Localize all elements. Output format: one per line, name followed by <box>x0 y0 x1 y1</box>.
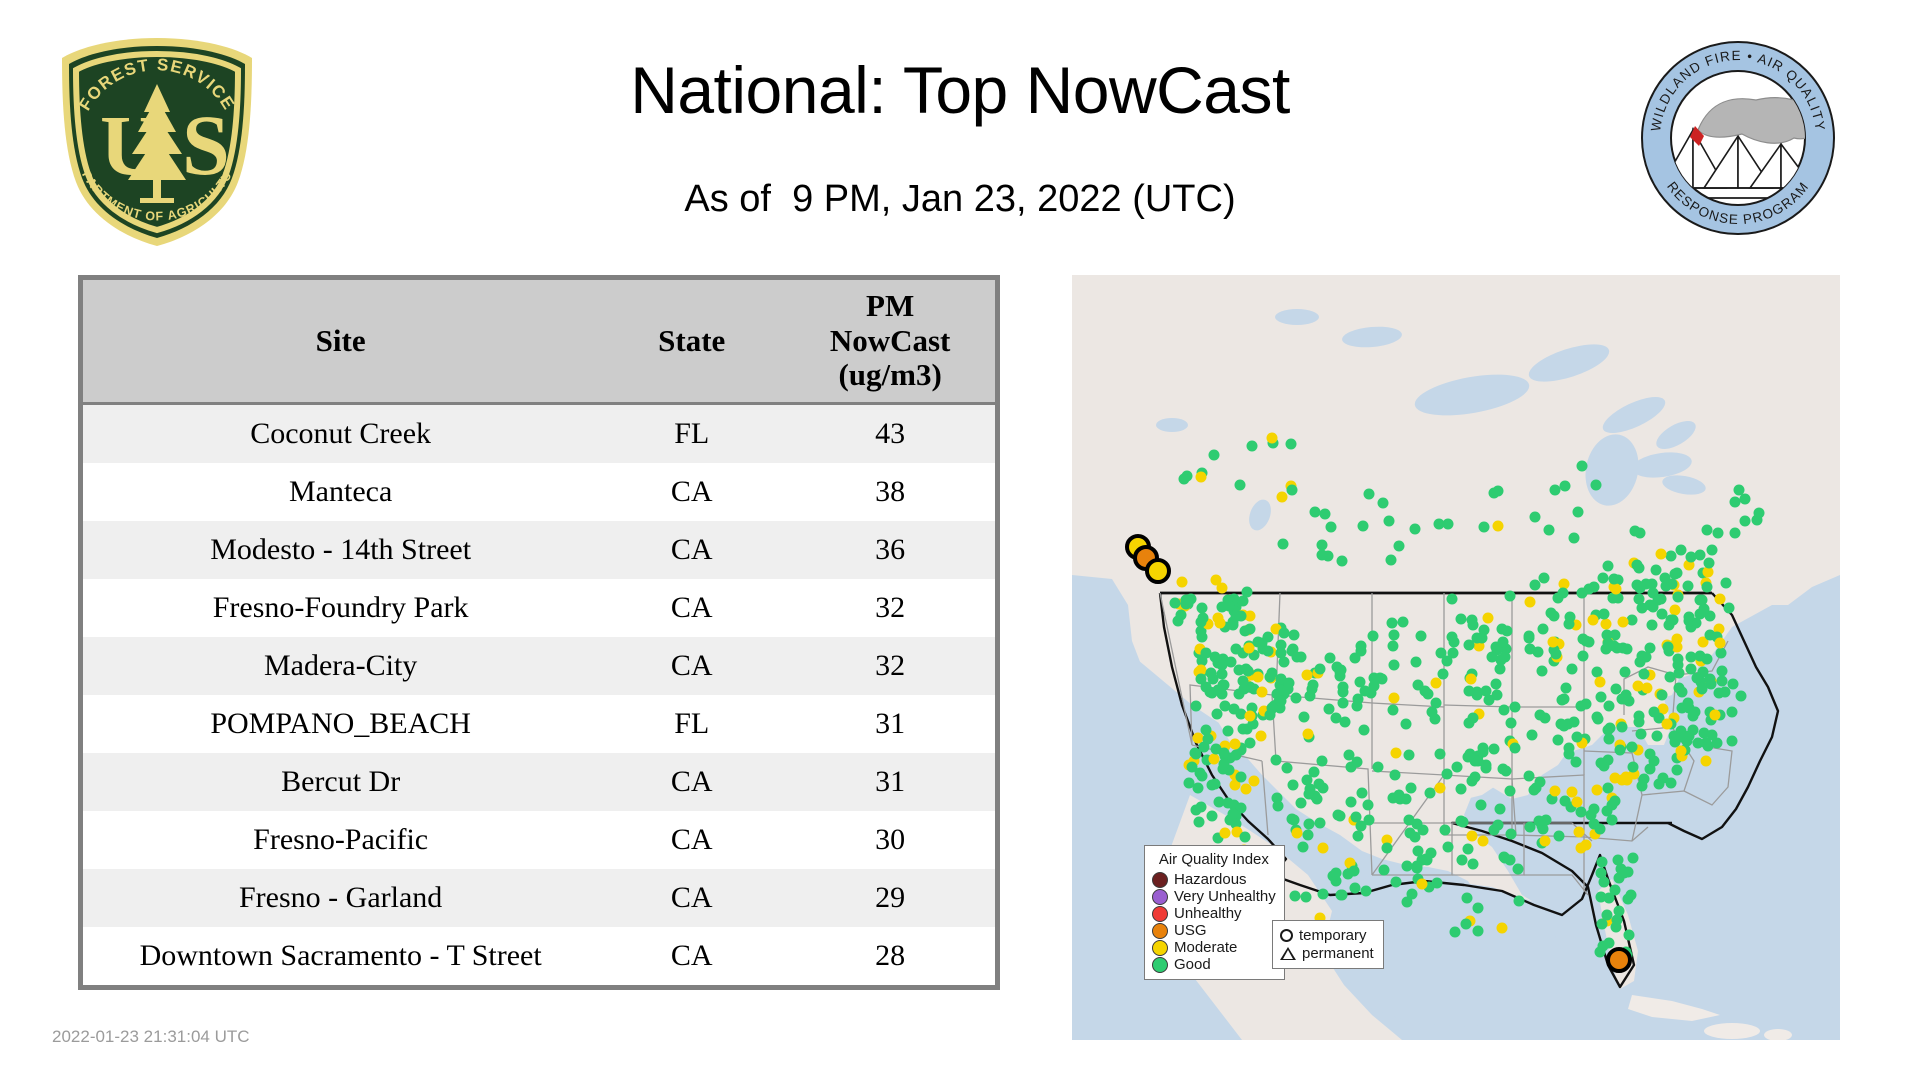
map-dot <box>1677 731 1688 742</box>
cell-state: CA <box>598 927 785 985</box>
column-header-site-label: Site <box>316 323 366 358</box>
map-dot <box>1463 843 1474 854</box>
map-dot <box>1314 778 1325 789</box>
aqi-monitor-map[interactable]: Air Quality Index HazardousVery Unhealth… <box>1072 275 1840 1040</box>
map-dot <box>1596 691 1607 702</box>
map-dot <box>1716 675 1727 686</box>
map-dot <box>1209 754 1220 765</box>
triangle-icon <box>1280 947 1296 960</box>
map-dot <box>1481 762 1492 773</box>
map-dot <box>1506 717 1517 728</box>
map-dot <box>1312 794 1323 805</box>
map-dot <box>1351 757 1362 768</box>
map-dot <box>1391 877 1402 888</box>
map-dot <box>1451 761 1462 772</box>
map-dot <box>1628 853 1639 864</box>
map-dot <box>1402 896 1413 907</box>
map-dot <box>1363 799 1374 810</box>
cell-pm: 30 <box>785 811 995 869</box>
map-dot <box>1255 731 1266 742</box>
map-dot <box>1723 602 1734 613</box>
map-dot <box>1364 488 1375 499</box>
top-nowcast-table: Site State PM NowCast (ug/m3) Coconut Cr… <box>78 275 1000 990</box>
cell-pm: 31 <box>785 695 995 753</box>
map-dot <box>1315 664 1326 675</box>
map-dot <box>1501 626 1512 637</box>
map-dot <box>1546 607 1557 618</box>
map-dot <box>1314 818 1325 829</box>
legend-row-temporary: temporary <box>1280 926 1374 944</box>
map-dot <box>1665 614 1676 625</box>
map-dot <box>1289 891 1300 902</box>
map-dot <box>1359 724 1370 735</box>
map-dot <box>1563 618 1574 629</box>
map-dot <box>1703 567 1714 578</box>
map-dot <box>1456 783 1467 794</box>
cell-pm: 36 <box>785 521 995 579</box>
map-dot <box>1672 653 1683 664</box>
map-dot <box>1590 480 1601 491</box>
map-dot <box>1462 892 1473 903</box>
map-dot <box>1337 889 1348 900</box>
map-dot <box>1572 506 1583 517</box>
map-dot <box>1349 882 1360 893</box>
map-dot <box>1231 643 1242 654</box>
map-dot <box>1303 829 1314 840</box>
cell-site: Modesto - 14th Street <box>83 521 598 579</box>
map-dot <box>1577 633 1588 644</box>
map-dot <box>1619 693 1630 704</box>
map-dot <box>1493 520 1504 531</box>
map-dot <box>1349 865 1360 876</box>
table-row: Modesto - 14th StreetCA36 <box>83 521 995 579</box>
cell-site: Madera-City <box>83 637 598 695</box>
map-dot <box>1284 678 1295 689</box>
map-dot <box>1593 713 1604 724</box>
map-dot <box>1634 711 1645 722</box>
map-dot <box>1238 595 1249 606</box>
map-dot <box>1504 590 1515 601</box>
map-dot <box>1524 644 1535 655</box>
air-quality-index-legend: Air Quality Index HazardousVery Unhealth… <box>1144 845 1285 980</box>
map-dot <box>1630 525 1641 536</box>
map-dot <box>1603 560 1614 571</box>
map-dot <box>1497 636 1508 647</box>
map-dot-highlighted[interactable] <box>1145 558 1171 584</box>
map-dot <box>1228 703 1239 714</box>
cell-site: POMPANO_BEACH <box>83 695 598 753</box>
map-dot <box>1702 525 1713 536</box>
map-dot <box>1598 609 1609 620</box>
map-dot <box>1537 624 1548 635</box>
map-dot <box>1525 821 1536 832</box>
map-dot <box>1236 771 1247 782</box>
map-dot <box>1426 847 1437 858</box>
map-dot <box>1229 739 1240 750</box>
map-dot <box>1450 927 1461 938</box>
map-dot <box>1610 772 1621 783</box>
cell-pm: 32 <box>785 637 995 695</box>
map-dot <box>1288 630 1299 641</box>
map-dot <box>1364 815 1375 826</box>
cell-state: FL <box>598 404 785 464</box>
aqi-legend-label: Very Unhealthy <box>1174 888 1276 905</box>
map-dot <box>1560 480 1571 491</box>
cell-site: Downtown Sacramento - T Street <box>83 927 598 985</box>
legend-row-permanent: permanent <box>1280 944 1374 962</box>
map-dot <box>1577 651 1588 662</box>
map-dot <box>1390 769 1401 780</box>
map-dot <box>1302 729 1313 740</box>
aqi-legend-item: Hazardous <box>1152 871 1276 888</box>
map-dot <box>1192 783 1203 794</box>
map-dot <box>1252 636 1263 647</box>
map-dot <box>1395 793 1406 804</box>
cell-pm: 29 <box>785 869 995 927</box>
map-dot <box>1498 763 1509 774</box>
column-header-pm-line2: NowCast <box>830 323 951 358</box>
map-dot <box>1486 652 1497 663</box>
aqi-legend-label: Good <box>1174 956 1211 973</box>
map-dot <box>1406 783 1417 794</box>
map-dot <box>1492 820 1503 831</box>
cell-state: CA <box>598 463 785 521</box>
map-dot <box>1671 764 1682 775</box>
map-dot <box>1377 498 1388 509</box>
map-dot <box>1513 896 1524 907</box>
map-dot <box>1351 811 1362 822</box>
map-dot <box>1245 738 1256 749</box>
map-dot <box>1455 613 1466 624</box>
map-dot <box>1191 804 1202 815</box>
map-dot <box>1359 685 1370 696</box>
map-dot <box>1257 687 1268 698</box>
aqi-color-swatch <box>1152 923 1168 939</box>
map-dot <box>1727 706 1738 717</box>
map-dot <box>1576 843 1587 854</box>
map-dot <box>1505 785 1516 796</box>
legend-label-permanent: permanent <box>1302 945 1374 962</box>
map-dot <box>1338 697 1349 708</box>
map-dot <box>1310 506 1321 517</box>
map-dot <box>1597 573 1608 584</box>
map-dot <box>1495 663 1506 674</box>
map-dot <box>1626 741 1637 752</box>
map-dot <box>1219 827 1230 838</box>
map-dot <box>1277 491 1288 502</box>
table-row: Fresno-PacificCA30 <box>83 811 995 869</box>
map-dot <box>1401 861 1412 872</box>
map-dot <box>1653 779 1664 790</box>
map-dot <box>1263 646 1274 657</box>
map-dot <box>1206 668 1217 679</box>
map-dot <box>1194 817 1205 828</box>
map-dot <box>1244 711 1255 722</box>
map-dot <box>1262 631 1273 642</box>
map-dot <box>1577 461 1588 472</box>
map-dot <box>1318 889 1329 900</box>
table-row: Coconut CreekFL43 <box>83 404 995 464</box>
map-dot <box>1753 507 1764 518</box>
map-dot <box>1286 439 1297 450</box>
map-dot <box>1386 618 1397 629</box>
map-dot <box>1196 471 1207 482</box>
map-dot <box>1335 666 1346 677</box>
legend-label-temporary: temporary <box>1299 927 1367 944</box>
map-dot <box>1663 641 1674 652</box>
aqi-legend-item: Very Unhealthy <box>1152 888 1276 905</box>
wfaqrp-logo: WILDLAND FIRE • AIR QUALITY RESPONSE PRO… <box>1638 38 1838 238</box>
map-dot <box>1656 594 1667 605</box>
map-dot <box>1588 818 1599 829</box>
map-dot <box>1685 663 1696 674</box>
aqi-color-swatch <box>1152 906 1168 922</box>
map-dot <box>1651 730 1662 741</box>
map-dot <box>1506 828 1517 839</box>
cell-pm: 43 <box>785 404 995 464</box>
map-dot <box>1617 722 1628 733</box>
footer-timestamp: 2022-01-23 21:31:04 UTC <box>52 1027 250 1047</box>
map-dot <box>1609 573 1620 584</box>
aqi-legend-label: Hazardous <box>1174 871 1247 888</box>
aqi-color-swatch <box>1152 940 1168 956</box>
map-dot <box>1523 771 1534 782</box>
map-dot <box>1439 825 1450 836</box>
cell-pm: 32 <box>785 579 995 637</box>
map-dot <box>1612 592 1623 603</box>
map-dot <box>1317 755 1328 766</box>
map-dot <box>1288 779 1299 790</box>
map-dot <box>1702 653 1713 664</box>
map-dot <box>1435 749 1446 760</box>
map-dot <box>1278 656 1289 667</box>
map-dot <box>1713 527 1724 538</box>
map-dot <box>1170 598 1181 609</box>
column-header-pm-line3: (ug/m3) <box>838 357 941 392</box>
map-dot <box>1282 763 1293 774</box>
map-dot <box>1468 858 1479 869</box>
map-dot <box>1235 611 1246 622</box>
map-dot <box>1567 663 1578 674</box>
cell-site: Manteca <box>83 463 598 521</box>
map-dot <box>1560 682 1571 693</box>
map-dot <box>1206 811 1217 822</box>
column-header-pm-nowcast: PM NowCast (ug/m3) <box>785 280 995 404</box>
table-row: POMPANO_BEACHFL31 <box>83 695 995 753</box>
map-dot <box>1623 930 1634 941</box>
map-dot <box>1358 521 1369 532</box>
map-dot <box>1619 666 1630 677</box>
page-title: National: Top NowCast <box>0 56 1920 125</box>
map-dot <box>1210 652 1221 663</box>
map-dot <box>1368 631 1379 642</box>
map-dot <box>1264 671 1275 682</box>
map-dot <box>1320 508 1331 519</box>
cell-state: CA <box>598 753 785 811</box>
map-dot <box>1720 578 1731 589</box>
map-dot <box>1523 632 1534 643</box>
map-dot <box>1410 523 1421 534</box>
map-dot <box>1388 693 1399 704</box>
map-dot <box>1693 738 1704 749</box>
map-dot <box>1524 597 1535 608</box>
map-dot <box>1595 758 1606 769</box>
map-dot <box>1266 433 1277 444</box>
map-dot <box>1228 620 1239 631</box>
circle-icon <box>1280 929 1293 942</box>
map-dot <box>1296 651 1307 662</box>
map-dot <box>1295 798 1306 809</box>
aqi-legend-label: Unhealthy <box>1174 905 1242 922</box>
map-dot <box>1234 480 1245 491</box>
map-dot <box>1472 903 1483 914</box>
cell-site: Fresno-Pacific <box>83 811 598 869</box>
map-dot <box>1714 638 1725 649</box>
map-dot <box>1703 741 1714 752</box>
map-dot <box>1287 485 1298 496</box>
map-dot <box>1656 690 1667 701</box>
map-dot <box>1688 711 1699 722</box>
map-dot <box>1401 718 1412 729</box>
map-dot <box>1465 673 1476 684</box>
map-dot <box>1298 712 1309 723</box>
map-dot <box>1656 548 1667 559</box>
map-dot <box>1330 712 1341 723</box>
map-dot <box>1410 832 1421 843</box>
map-dot <box>1715 648 1726 659</box>
map-dot <box>1591 784 1602 795</box>
map-dot <box>1614 744 1625 755</box>
map-dot <box>1308 767 1319 778</box>
table-row: Madera-CityCA32 <box>83 637 995 695</box>
map-dot <box>1490 679 1501 690</box>
map-dot <box>1673 682 1684 693</box>
map-dot <box>1334 810 1345 821</box>
map-dot <box>1239 625 1250 636</box>
map-dot <box>1529 512 1540 523</box>
map-dot <box>1432 878 1443 889</box>
map-dot <box>1553 734 1564 745</box>
map-dot <box>1303 819 1314 830</box>
map-dot <box>1478 521 1489 532</box>
map-dot <box>1434 519 1445 530</box>
map-dot <box>1196 631 1207 642</box>
map-dot <box>1325 652 1336 663</box>
aqi-color-swatch <box>1152 872 1168 888</box>
map-dot <box>1598 940 1609 951</box>
map-dot <box>1227 809 1238 820</box>
map-dot <box>1556 695 1567 706</box>
cell-state: CA <box>598 637 785 695</box>
map-dot <box>1572 731 1583 742</box>
column-header-state-label: State <box>658 323 725 358</box>
map-dot <box>1325 522 1336 533</box>
map-dot <box>1340 716 1351 727</box>
map-dot <box>1441 656 1452 667</box>
map-dot <box>1457 855 1468 866</box>
map-dot <box>1571 797 1582 808</box>
map-dot <box>1535 710 1546 721</box>
map-dot <box>1715 594 1726 605</box>
map-dot <box>1467 775 1478 786</box>
page-subtitle: As of 9 PM, Jan 23, 2022 (UTC) <box>0 178 1920 221</box>
table-row: Fresno-Foundry ParkCA32 <box>83 579 995 637</box>
map-dot <box>1483 613 1494 624</box>
map-dot <box>1596 919 1607 930</box>
map-dot <box>1648 707 1659 718</box>
map-dot <box>1467 831 1478 842</box>
map-dot <box>1304 783 1315 794</box>
table-row: Bercut DrCA31 <box>83 753 995 811</box>
map-dot <box>1495 804 1506 815</box>
map-dot <box>1683 612 1694 623</box>
aqi-legend-title: Air Quality Index <box>1152 851 1276 868</box>
map-dot <box>1248 776 1259 787</box>
map-dot <box>1720 686 1731 697</box>
map-dot <box>1740 493 1751 504</box>
map-dot <box>1635 656 1646 667</box>
map-dot <box>1223 726 1234 737</box>
map-dot <box>1617 643 1628 654</box>
map-dot <box>1554 831 1565 842</box>
aqi-legend-item: USG <box>1152 922 1276 939</box>
map-dot <box>1355 640 1366 651</box>
map-dot <box>1611 583 1622 594</box>
map-dot <box>1178 474 1189 485</box>
map-dot <box>1564 743 1575 754</box>
map-dot <box>1620 771 1631 782</box>
map-dot <box>1237 676 1248 687</box>
map-dot <box>1638 774 1649 785</box>
cell-site: Fresno-Foundry Park <box>83 579 598 637</box>
map-dot <box>1389 659 1400 670</box>
map-dot <box>1644 749 1655 760</box>
map-dot <box>1476 800 1487 811</box>
map-dot-highlighted[interactable] <box>1606 947 1632 973</box>
map-dot <box>1457 816 1468 827</box>
map-dot <box>1626 889 1637 900</box>
map-dot <box>1253 672 1264 683</box>
map-dot <box>1536 666 1547 677</box>
map-dot <box>1388 629 1399 640</box>
map-dot <box>1576 700 1587 711</box>
map-dot <box>1441 769 1452 780</box>
map-dot <box>1390 748 1401 759</box>
column-header-site: Site <box>83 280 598 404</box>
map-dot <box>1726 735 1737 746</box>
map-dot <box>1297 841 1308 852</box>
map-dot <box>1706 544 1717 555</box>
map-dot <box>1239 831 1250 842</box>
cell-site: Fresno - Garland <box>83 869 598 927</box>
map-dot <box>1478 746 1489 757</box>
map-dot <box>1398 616 1409 627</box>
map-dot <box>1210 744 1221 755</box>
aqi-legend-item: Unhealthy <box>1152 905 1276 922</box>
map-dot <box>1665 777 1676 788</box>
map-dot <box>1510 701 1521 712</box>
map-dot <box>1576 587 1587 598</box>
map-dot <box>1683 580 1694 591</box>
map-dot <box>1701 582 1712 593</box>
map-dot <box>1496 923 1507 934</box>
table-row: MantecaCA38 <box>83 463 995 521</box>
map-dot <box>1271 755 1282 766</box>
table-row: Fresno - GarlandCA29 <box>83 869 995 927</box>
map-dot <box>1610 884 1621 895</box>
map-dot <box>1446 593 1457 604</box>
column-header-pm-line1: PM <box>866 288 914 323</box>
